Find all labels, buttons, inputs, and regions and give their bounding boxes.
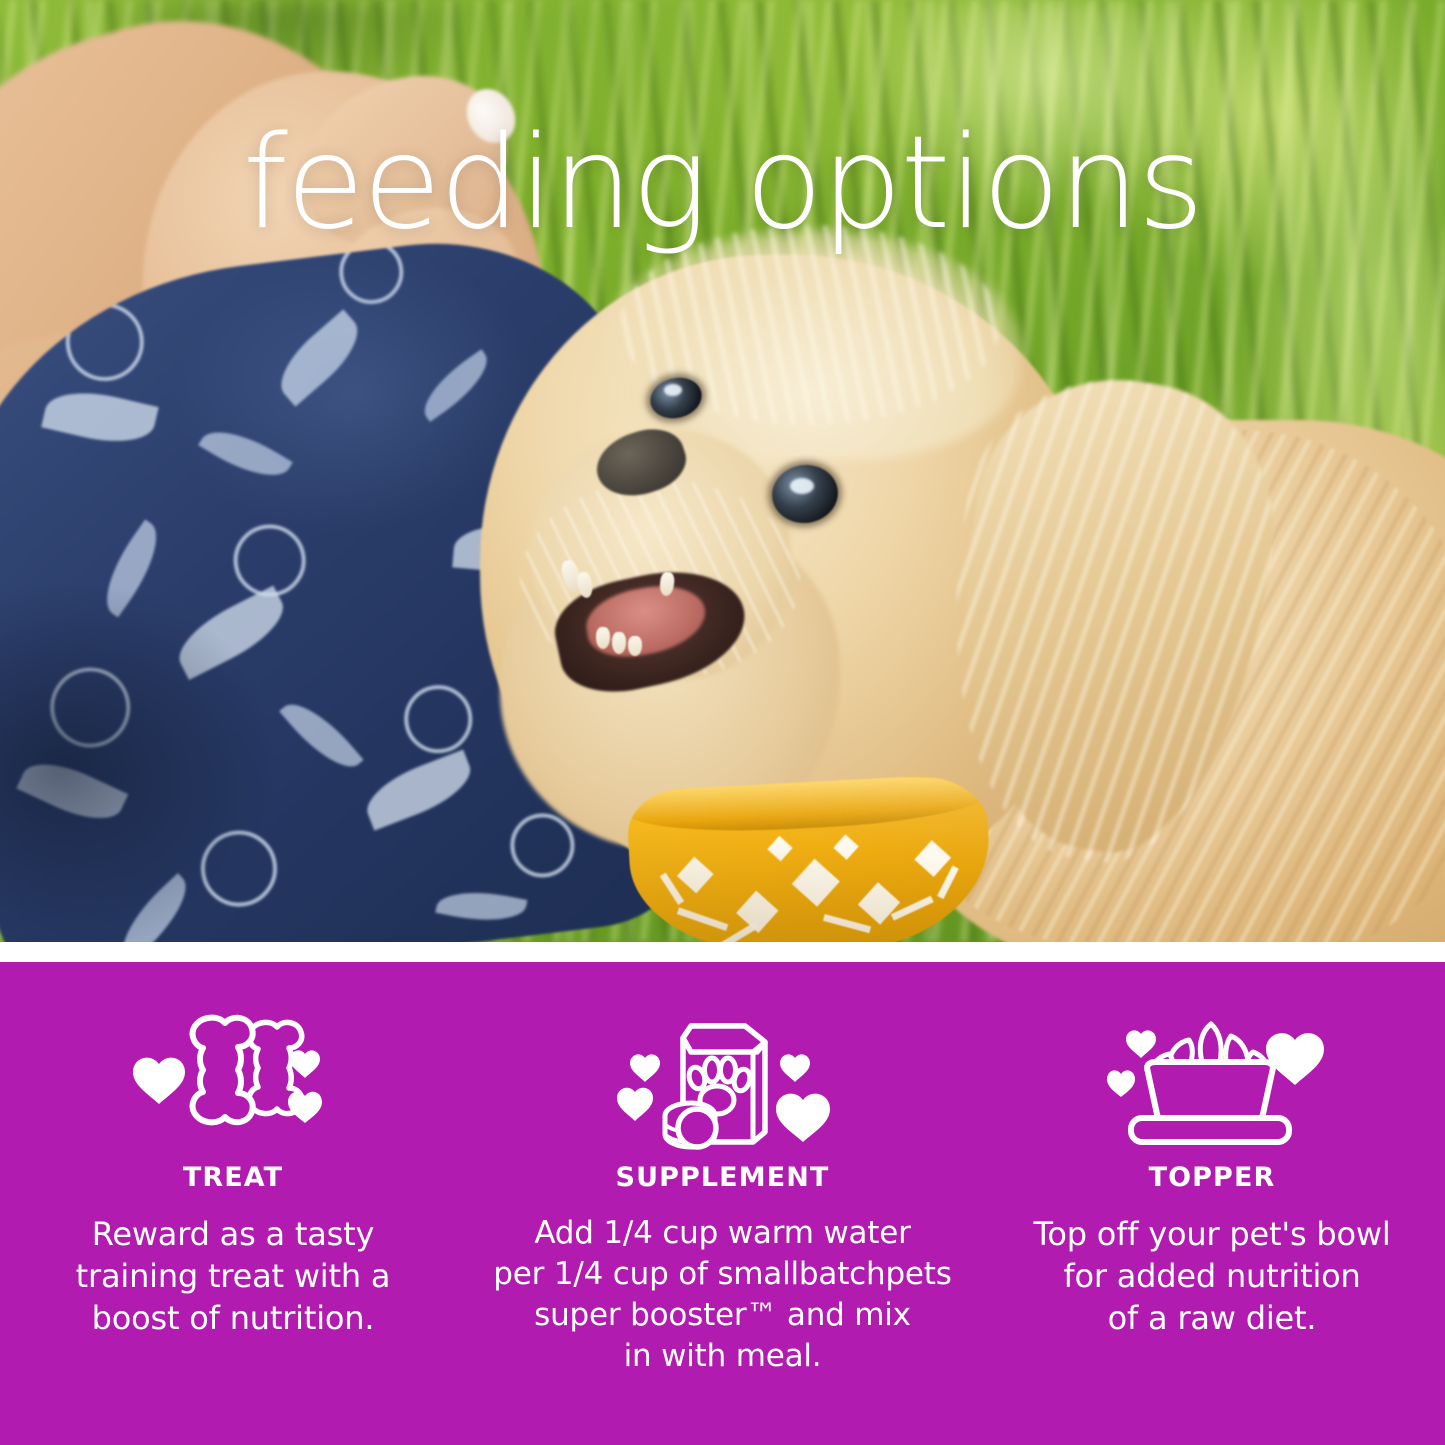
dog-tooth-4	[612, 632, 626, 654]
dog-eye-right-gleam	[790, 478, 814, 494]
dog-eye-left-gleam	[664, 384, 682, 396]
feeding-option-description: Top off your pet's bowl for added nutrit…	[1019, 1213, 1404, 1340]
bandana-shading	[626, 773, 994, 942]
feeding-option-topper: TOPPER Top off your pet's bowl for added…	[979, 962, 1445, 1445]
feeding-option-treat: TREAT Reward as a tasty training treat w…	[0, 962, 466, 1445]
page-title: feeding options	[0, 120, 1445, 248]
feeding-option-label: TOPPER	[1149, 1164, 1276, 1191]
dog-tooth-3	[596, 627, 610, 649]
feeding-options-panel: TREAT Reward as a tasty training treat w…	[0, 962, 1445, 1445]
feeding-options-columns: TREAT Reward as a tasty training treat w…	[0, 962, 1445, 1445]
dog-bandana	[626, 773, 994, 942]
dog-bone-treat-icon	[103, 1012, 363, 1152]
feeding-options-infographic: feeding options	[0, 0, 1445, 1445]
dog-tooth-5	[628, 636, 642, 656]
hero-photo-section: feeding options	[0, 0, 1445, 942]
food-bag-supplement-icon	[593, 1012, 853, 1152]
feeding-option-description: Add 1/4 cup warm water per 1/4 cup of sm…	[485, 1213, 959, 1377]
feeding-option-label: SUPPLEMENT	[616, 1164, 830, 1191]
feeding-option-supplement: SUPPLEMENT Add 1/4 cup warm water per 1/…	[466, 962, 979, 1445]
feeding-option-label: TREAT	[183, 1164, 283, 1191]
food-bowl-topper-icon	[1082, 1012, 1342, 1152]
feeding-option-description: Reward as a tasty training treat with a …	[62, 1213, 405, 1340]
